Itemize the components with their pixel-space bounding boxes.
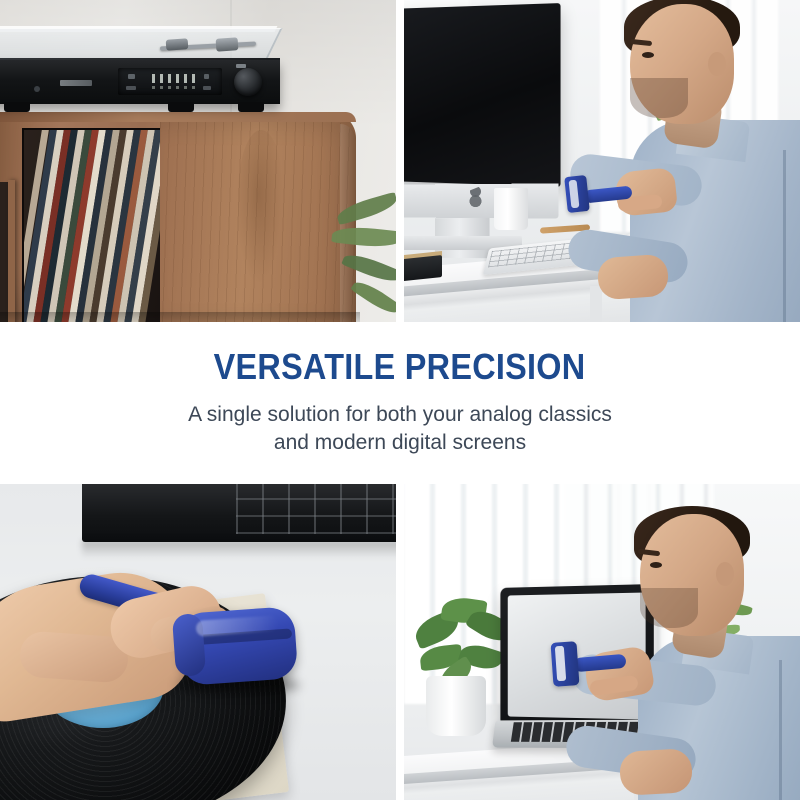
receiver-power-button[interactable] — [34, 86, 40, 92]
photo-panel-turntable — [0, 0, 396, 322]
man-hand-on-desk — [619, 748, 693, 796]
desk-leg — [590, 286, 602, 322]
desk-cup — [494, 188, 528, 230]
tonearm-counterweight — [216, 37, 239, 52]
text-banner: VERSATILE PRECISION A single solution fo… — [0, 322, 800, 484]
photo-panel-imac-cleaning — [404, 0, 800, 322]
tonearm-headshell — [166, 38, 189, 51]
apple-logo-body-icon — [468, 190, 483, 208]
display-label-right — [203, 86, 211, 90]
shelf-divider — [8, 180, 15, 322]
receiver-foot-mid — [168, 102, 194, 112]
receiver-foot-right — [238, 102, 264, 112]
equipment-grille — [236, 484, 396, 534]
subtitle-line-2: and modern digital screens — [188, 429, 612, 457]
equipment-shadow — [82, 540, 396, 558]
shirt-fold — [783, 150, 786, 322]
vinyl-record-collection — [24, 130, 160, 322]
wood-grain-knot — [238, 130, 284, 290]
page-title: VERSATILE PRECISION — [214, 349, 586, 385]
plant-pot-front — [426, 676, 486, 736]
man-beard — [630, 78, 688, 118]
display-indicator-right — [204, 74, 209, 79]
man-eye — [642, 52, 654, 58]
volume-knob-label — [236, 64, 246, 68]
display-segments — [152, 74, 200, 83]
display-segments-lower — [152, 86, 200, 89]
man-eye — [650, 562, 662, 568]
receiver-brand-mark — [60, 80, 92, 86]
volume-knob[interactable] — [234, 68, 262, 96]
man-hand-on-desk — [597, 254, 670, 301]
man-beard — [640, 588, 698, 628]
imac-screen — [404, 3, 561, 187]
subtitle-line-1: A single solution for both your analog c… — [188, 401, 612, 429]
man-ear — [708, 52, 726, 76]
shirt-fold — [779, 660, 782, 800]
photo-panel-laptop-cleaning — [404, 484, 800, 800]
houseplant — [306, 182, 396, 322]
credenza-top-edge — [0, 112, 356, 122]
display-label-left — [126, 86, 136, 90]
photo-panel-vinyl-cleaning — [0, 484, 396, 800]
product-feature-collage: VERSATILE PRECISION A single solution fo… — [0, 0, 800, 800]
man-ear — [716, 562, 734, 586]
receiver-foot-left — [4, 102, 30, 112]
display-indicator-left — [128, 74, 135, 79]
page-subtitle: A single solution for both your analog c… — [188, 401, 612, 457]
